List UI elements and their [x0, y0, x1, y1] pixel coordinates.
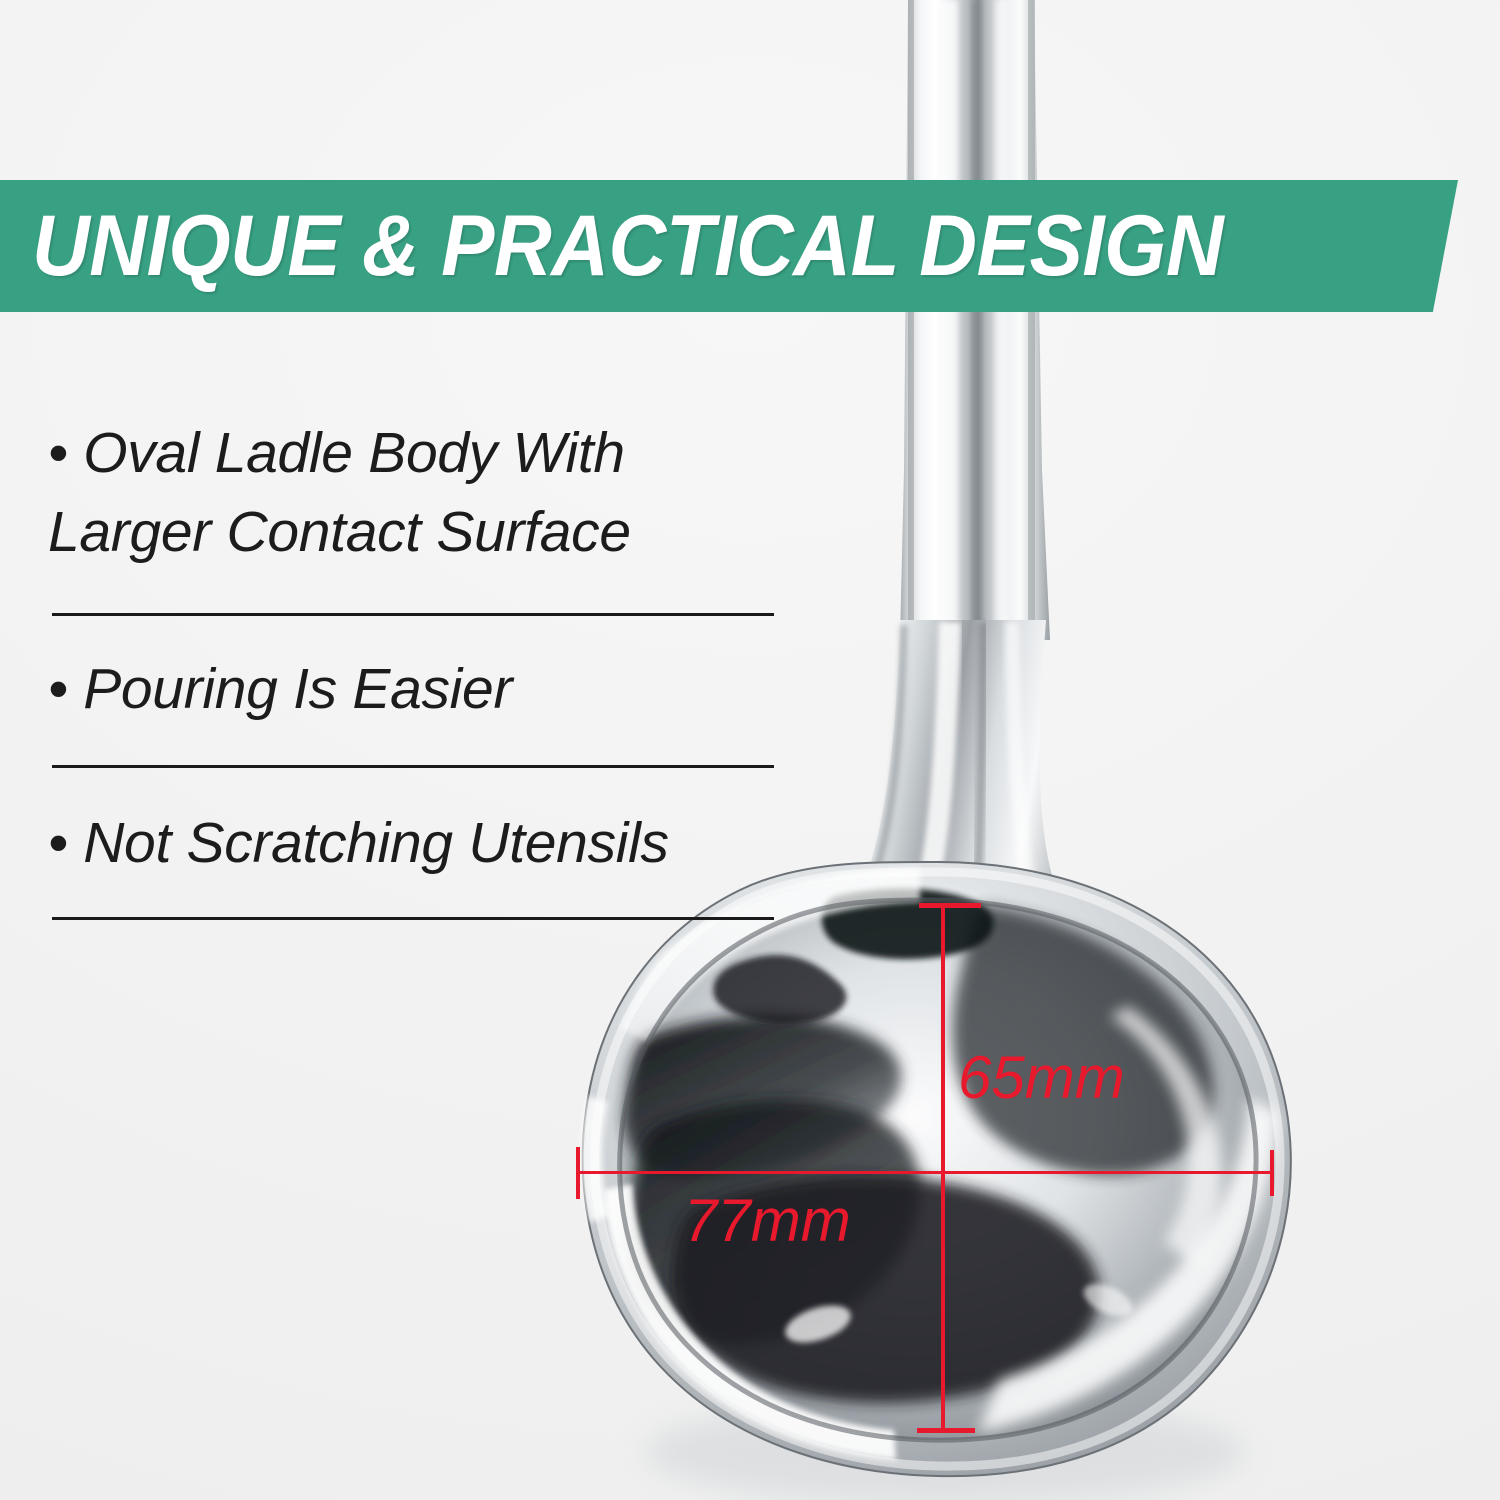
feature-divider-3: [52, 917, 774, 920]
feature-text-1: • Oval Ladle Body With Larger Contact Su…: [48, 414, 748, 571]
product-infographic-canvas: UNIQUE & PRACTICAL DESIGN • Oval Ladle B…: [0, 0, 1500, 1500]
list-item: • Not Scratching Utensils: [48, 804, 778, 920]
feature-divider-1: [52, 613, 774, 616]
list-item: • Oval Ladle Body With Larger Contact Su…: [48, 414, 778, 616]
feature-divider-2: [52, 765, 774, 768]
feature-list: • Oval Ladle Body With Larger Contact Su…: [48, 414, 778, 920]
ladle-bowl: [581, 862, 1291, 1476]
feature-text-2: • Pouring Is Easier: [48, 650, 778, 729]
ladle-handle: [900, 0, 1050, 640]
headline-banner: UNIQUE & PRACTICAL DESIGN: [0, 180, 1458, 312]
feature-text-3: • Not Scratching Utensils: [48, 804, 778, 883]
list-item: • Pouring Is Easier: [48, 650, 778, 768]
banner-title: UNIQUE & PRACTICAL DESIGN: [32, 203, 1223, 289]
